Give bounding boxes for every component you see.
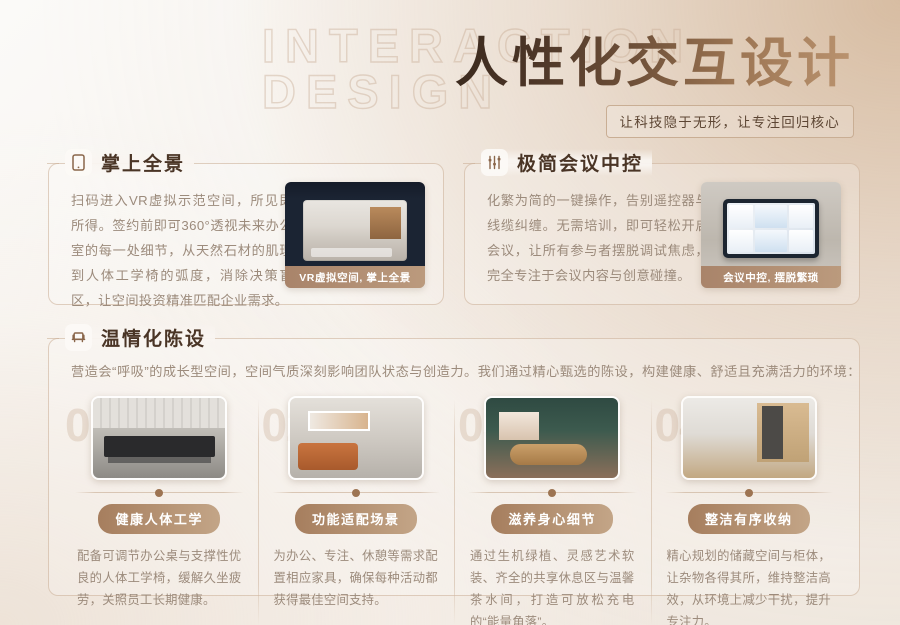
item-thumbnail	[484, 396, 620, 480]
section-intro: 营造会“呼吸”的成长型空间，空间气质深刻影响团队状态与创造力。我们通过精心甄选的…	[71, 361, 837, 380]
item-description: 配备可调节办公桌与支撑性优良的人体工学椅，缓解久坐疲劳，关照员工长期健康。	[77, 545, 242, 611]
item-description: 为办公、专注、休憩等需求配置相应家具，确保每种活动都获得最佳空间支持。	[274, 545, 439, 611]
image-caption: 会议中控, 摆脱繁琐	[701, 266, 841, 288]
card-body-text: 化繁为简的一键操作，告别遥控器与线缆纠缠。无需培训，即可轻松开启会议，让所有参与…	[487, 188, 709, 288]
item-divider	[468, 492, 637, 493]
list-item: 03 滋养身心细节 通过生机绿植、灵感艺术软装、齐全的共享休息区与温馨茶水间，打…	[454, 393, 651, 625]
item-thumbnail	[288, 396, 424, 480]
header: INTERACTION DESIGN 人性化交互设计 让科技隐于无形，让专注回归…	[0, 0, 900, 142]
card-body-text: 扫码进入VR虚拟示范空间，所见即所得。签约前即可360°透视未来办公室的每一处细…	[71, 188, 293, 313]
armchair-icon	[65, 324, 92, 351]
mobile-phone-icon	[65, 149, 92, 176]
card-header: 极简会议中控	[481, 149, 652, 176]
divider-dot	[352, 489, 360, 497]
item-divider	[665, 492, 834, 493]
item-description: 精心规划的储藏空间与柜体，让杂物各得其所，维持整洁高效，从环境上减少干扰，提升专…	[667, 545, 832, 625]
divider-dot	[155, 489, 163, 497]
image-caption: VR虚拟空间, 掌上全景	[285, 266, 425, 288]
card-meeting-control: 极简会议中控 化繁为简的一键操作，告别遥控器与线缆纠缠。无需培训，即可轻松开启会…	[464, 163, 860, 305]
card-image: 会议中控, 摆脱繁琐	[701, 182, 841, 288]
divider-dot	[745, 489, 753, 497]
card-image: VR虚拟空间, 掌上全景	[285, 182, 425, 288]
page-title: 人性化交互设计	[455, 34, 854, 94]
item-thumbnail	[91, 396, 227, 480]
item-label: 滋养身心细节	[491, 504, 613, 534]
item-label: 整洁有序收纳	[688, 504, 810, 534]
section-furnishings: 温情化陈设 营造会“呼吸”的成长型空间，空间气质深刻影响团队状态与创造力。我们通…	[48, 338, 860, 596]
list-item: 02 功能适配场景 为办公、专注、休憩等需求配置相应家具，确保每种活动都获得最佳…	[258, 393, 455, 625]
card-header: 掌上全景	[65, 149, 194, 176]
page-subtitle: 让科技隐于无形，让专注回归核心	[606, 105, 855, 138]
section-header: 温情化陈设	[65, 324, 215, 351]
item-divider	[272, 492, 441, 493]
divider-dot	[548, 489, 556, 497]
card-title: 掌上全景	[101, 149, 185, 176]
section-title: 温情化陈设	[101, 324, 206, 351]
poster-root: INTERACTION DESIGN 人性化交互设计 让科技隐于无形，让专注回归…	[0, 0, 900, 625]
item-divider	[75, 492, 244, 493]
list-item: 04 整洁有序收纳 精心规划的储藏空间与柜体，让杂物各得其所，维持整洁高效，从环…	[651, 393, 848, 625]
item-label: 功能适配场景	[295, 504, 417, 534]
item-description: 通过生机绿植、灵感艺术软装、齐全的共享休息区与温馨茶水间，打造可放松充电的“能量…	[470, 545, 635, 625]
card-mobile-panorama: 掌上全景 扫码进入VR虚拟示范空间，所见即所得。签约前即可360°透视未来办公室…	[48, 163, 444, 305]
item-thumbnail	[681, 396, 817, 480]
list-item: 01 健康人体工学 配备可调节办公桌与支撑性优良的人体工学椅，缓解久坐疲劳，关照…	[61, 393, 258, 625]
sliders-icon	[481, 149, 508, 176]
item-label: 健康人体工学	[98, 504, 220, 534]
card-title: 极简会议中控	[517, 149, 643, 176]
items-grid: 01 健康人体工学 配备可调节办公桌与支撑性优良的人体工学椅，缓解久坐疲劳，关照…	[61, 393, 847, 585]
